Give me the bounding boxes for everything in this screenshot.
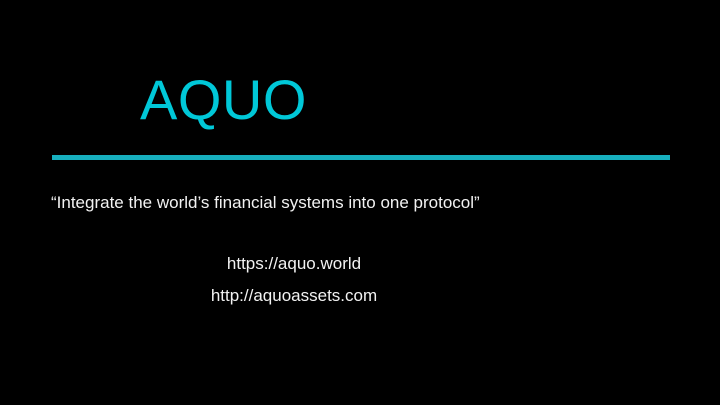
presentation-slide: AQUO “Integrate the world’s financial sy… [0, 0, 720, 405]
page-title: AQUO [140, 68, 307, 132]
link-secondary[interactable]: http://aquoassets.com [0, 285, 654, 307]
tagline-quote: “Integrate the world’s financial systems… [51, 192, 480, 214]
link-primary[interactable]: https://aquo.world [0, 253, 654, 275]
title-divider-rule [52, 155, 670, 160]
